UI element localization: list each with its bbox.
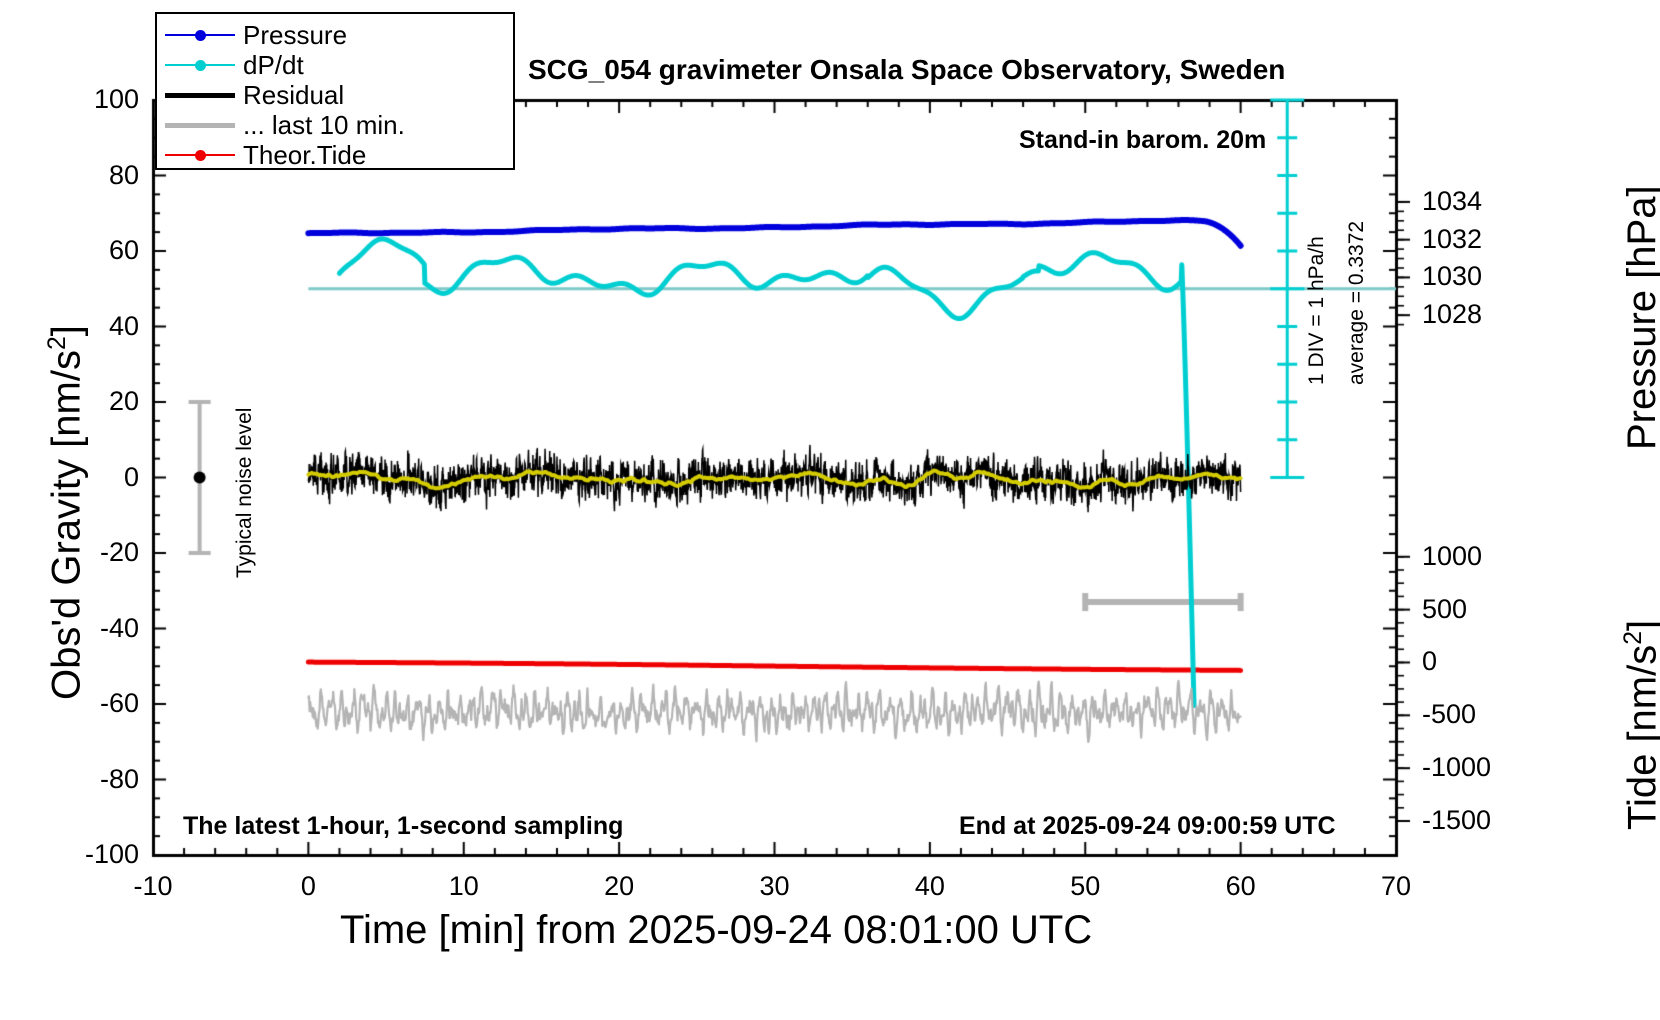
legend: PressuredP/dtResidual... last 10 min.The… (155, 12, 515, 170)
legend-swatch-icon (157, 80, 243, 110)
standin-barom-annotation: Stand-in barom. 20m (1019, 126, 1266, 155)
tide-tick-label: -1500 (1422, 805, 1491, 836)
pressure-tick-label: 1034 (1422, 186, 1482, 217)
x-tick-label: 40 (870, 871, 990, 902)
y-tick-label: -60 (19, 688, 139, 719)
x-tick-label: 10 (404, 871, 524, 902)
y-tick-label: -40 (19, 613, 139, 644)
y-axis-title-tide: Tide [nm/s2] (1620, 620, 1660, 830)
x-tick-label: -10 (93, 871, 213, 902)
legend-item-3: ... last 10 min. (157, 110, 513, 140)
x-tick-label: 60 (1181, 871, 1301, 902)
chart-title: SCG_054 gravimeter Onsala Space Observat… (528, 54, 1285, 86)
legend-item-label: dP/dt (243, 50, 304, 81)
legend-item-4: Theor.Tide (157, 140, 513, 170)
legend-item-label: ... last 10 min. (243, 110, 405, 141)
tide-tick-label: 0 (1422, 646, 1437, 677)
legend-swatch-icon (157, 20, 243, 50)
sampling-annotation: The latest 1-hour, 1-second sampling (183, 812, 623, 841)
y-axis-title-left: Obs'd Gravity [nm/s2] (44, 325, 89, 700)
y-axis-title-pressure: Pressure [hPa] (1620, 185, 1660, 450)
pressure-tick-label: 1032 (1422, 224, 1482, 255)
div-scale-annotation: 1 DIV = 1 hPa/h (1305, 236, 1329, 385)
y-tick-label: 20 (19, 386, 139, 417)
legend-item-2: Residual (157, 80, 513, 110)
legend-item-label: Theor.Tide (243, 140, 366, 171)
y-tick-label: 100 (19, 84, 139, 115)
legend-item-1: dP/dt (157, 50, 513, 80)
gravimeter-chart: SCG_054 gravimeter Onsala Space Observat… (0, 0, 1660, 1020)
x-tick-label: 50 (1025, 871, 1145, 902)
pressure-tick-label: 1030 (1422, 261, 1482, 292)
y-tick-label: -20 (19, 537, 139, 568)
legend-item-0: Pressure (157, 20, 513, 50)
legend-swatch-icon (157, 50, 243, 80)
tide-tick-label: -500 (1422, 699, 1476, 730)
tide-tick-label: -1000 (1422, 752, 1491, 783)
legend-item-label: Residual (243, 80, 344, 111)
x-tick-label: 70 (1336, 871, 1456, 902)
y-tick-label: 0 (19, 462, 139, 493)
legend-item-label: Pressure (243, 20, 347, 51)
tide-tick-label: 500 (1422, 594, 1467, 625)
superscript-two: 2 (1620, 631, 1647, 645)
y-tick-label: 80 (19, 160, 139, 191)
x-tick-label: 20 (559, 871, 679, 902)
x-axis-title: Time [min] from 2025-09-24 08:01:00 UTC (340, 908, 1092, 953)
pressure-tick-label: 1028 (1422, 299, 1482, 330)
y-tick-label: 40 (19, 311, 139, 342)
end-time-annotation: End at 2025-09-24 09:00:59 UTC (959, 812, 1336, 841)
tide-tick-label: 1000 (1422, 541, 1482, 572)
legend-swatch-icon (157, 110, 243, 140)
y-tick-label: 60 (19, 235, 139, 266)
noise-level-annotation: Typical noise level (233, 408, 257, 578)
x-tick-label: 0 (248, 871, 368, 902)
x-tick-label: 30 (715, 871, 835, 902)
legend-swatch-icon (157, 140, 243, 170)
y-tick-label: -80 (19, 764, 139, 795)
y-tick-label: -100 (19, 839, 139, 870)
average-annotation: average = 0.3372 (1345, 221, 1369, 385)
